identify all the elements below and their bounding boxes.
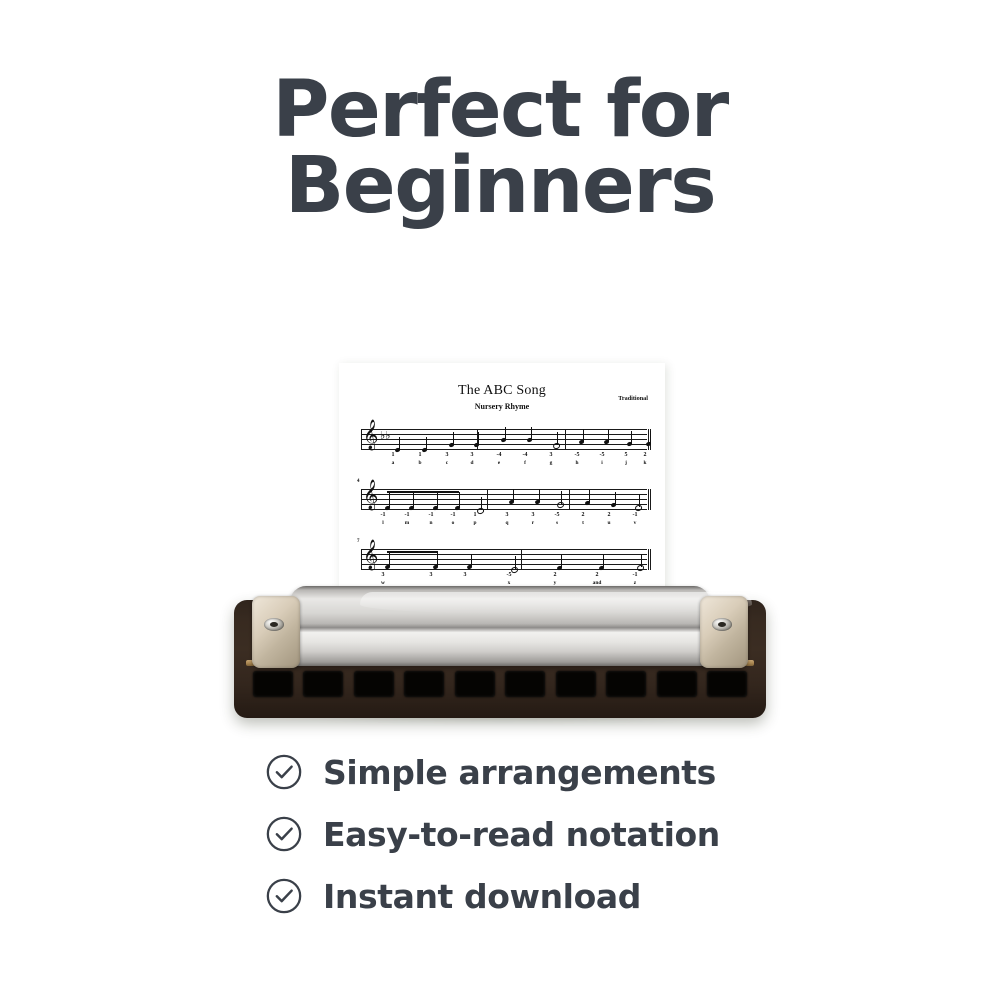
tab-number: 2 [573, 511, 593, 519]
staff-system-1: 𝄞 ♭♭ [357, 421, 647, 479]
lyric: g [541, 459, 561, 467]
tab-number: -1 [373, 511, 393, 519]
staff-lines-2: 𝄞 [361, 489, 647, 511]
beam [387, 551, 437, 553]
lyric: l [373, 519, 393, 527]
cover-highlight [360, 592, 752, 614]
tab-number: 3 [497, 511, 517, 519]
staff-system-2: 4 𝄞 [357, 481, 647, 539]
tab-number: 1 [465, 511, 485, 519]
sheet-music-header: The ABC Song Nursery Rhyme Traditional [339, 363, 665, 411]
lyric: d [462, 459, 482, 467]
tab-number: 3 [437, 451, 457, 459]
harmonica-hole [505, 671, 545, 697]
tab-number: 2 [587, 571, 607, 579]
tab-number: 2 [635, 451, 655, 459]
tab-number: -1 [397, 511, 417, 519]
harmonica-side-plate-left [252, 596, 300, 668]
harmonica-hole [707, 671, 747, 697]
page-title: Perfect for Beginners [0, 72, 1000, 225]
treble-clef-icon: 𝄞 [363, 542, 378, 568]
lyric: u [599, 519, 619, 527]
feature-list: Simple arrangements Easy-to-read notatio… [265, 750, 865, 936]
tab-number: 3 [462, 451, 482, 459]
tab-number: -5 [592, 451, 612, 459]
lyric: n [421, 519, 441, 527]
lyric: c [437, 459, 457, 467]
feature-item: Easy-to-read notation [265, 812, 865, 856]
lyric: j [616, 459, 636, 467]
check-circle-icon [265, 877, 303, 915]
tab-number: 3 [421, 571, 441, 579]
lyric: q [497, 519, 517, 527]
feature-label: Easy-to-read notation [323, 815, 720, 854]
feature-label: Instant download [323, 877, 641, 916]
tab-number: 1 [383, 451, 403, 459]
tab-number: -1 [443, 511, 463, 519]
harmonica-cover-plate [290, 586, 710, 666]
lyric: v [625, 519, 645, 527]
check-circle-icon [265, 753, 303, 791]
tab-number: -4 [515, 451, 535, 459]
harmonica-hole [303, 671, 343, 697]
check-circle-icon [265, 815, 303, 853]
tab-number: -5 [567, 451, 587, 459]
lyric: b [410, 459, 430, 467]
harmonica-hole [354, 671, 394, 697]
tab-number: 2 [599, 511, 619, 519]
sheet-music-preview: The ABC Song Nursery Rhyme Traditional 𝄞… [339, 363, 665, 599]
headline-line-2: Beginners [0, 148, 1000, 224]
lyric: r [523, 519, 543, 527]
harmonica-image [234, 586, 766, 720]
tab-number: -5 [547, 511, 567, 519]
promo-graphic: Perfect for Beginners The ABC Song Nurse… [0, 0, 1000, 1000]
harmonica-hole [455, 671, 495, 697]
key-signature: ♭♭ [380, 430, 390, 441]
tab-number: -1 [421, 511, 441, 519]
tab-number: 3 [523, 511, 543, 519]
measure-number-2: 4 [357, 479, 360, 484]
tab-number: -1 [625, 511, 645, 519]
harmonica-reedplate-bottom [248, 700, 752, 707]
tab-number: 1 [410, 451, 430, 459]
lyric: s [547, 519, 567, 527]
treble-clef-icon: 𝄞 [363, 482, 378, 508]
lyric: k [635, 459, 655, 467]
tab-number: -4 [489, 451, 509, 459]
lyric: o [443, 519, 463, 527]
tab-number: -5 [499, 571, 519, 579]
staff-lines-3: 𝄞 [361, 549, 647, 571]
sheet-music-subtitle: Nursery Rhyme [339, 402, 665, 411]
sheet-music-title: The ABC Song [339, 383, 665, 399]
lyric: e [489, 459, 509, 467]
lyric: p [465, 519, 485, 527]
tab-number: 3 [541, 451, 561, 459]
sheet-music-composer: Traditional [618, 395, 648, 402]
harmonica-hole [556, 671, 596, 697]
lyric: a [383, 459, 403, 467]
harmonica-hole [606, 671, 646, 697]
tab-number: 3 [455, 571, 475, 579]
lyric: m [397, 519, 417, 527]
lyric: t [573, 519, 593, 527]
harmonica-hole [657, 671, 697, 697]
lyric: h [567, 459, 587, 467]
headline-line-1: Perfect for [0, 72, 1000, 148]
lyric: f [515, 459, 535, 467]
tab-number: 2 [545, 571, 565, 579]
tab-number: -1 [625, 571, 645, 579]
tab-number: 5 [616, 451, 636, 459]
feature-item: Instant download [265, 874, 865, 918]
lyric: i [592, 459, 612, 467]
feature-item: Simple arrangements [265, 750, 865, 794]
harmonica-hole-row [253, 670, 747, 698]
screw-icon [712, 618, 732, 631]
harmonica-side-plate-right [700, 596, 748, 668]
harmonica-hole [253, 671, 293, 697]
treble-clef-icon: 𝄞 [363, 422, 378, 448]
harmonica-hole [404, 671, 444, 697]
feature-label: Simple arrangements [323, 753, 716, 792]
staff-lines-1: 𝄞 ♭♭ [361, 429, 647, 451]
measure-number-3: 7 [357, 539, 360, 544]
sheet-music-page: The ABC Song Nursery Rhyme Traditional 𝄞… [339, 363, 665, 599]
tab-number: 3 [373, 571, 393, 579]
screw-icon [264, 618, 284, 631]
beam [387, 491, 459, 493]
